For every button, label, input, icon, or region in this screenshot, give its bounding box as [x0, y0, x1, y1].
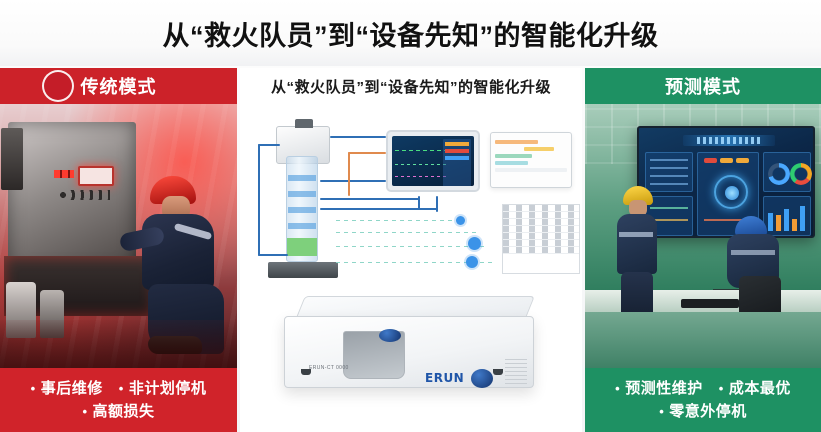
panel-mid-header: 从“救火队员”到“设备先知”的智能化升级: [240, 68, 582, 104]
wire-orange: [348, 152, 386, 154]
report-row: [495, 140, 538, 144]
bullet-item: 成本最优: [719, 377, 791, 400]
wire-bus-1: [320, 198, 420, 200]
wire-left-vertical: [258, 144, 260, 256]
status-bar: [445, 149, 469, 153]
status-pill: [704, 158, 717, 163]
bullet-row-2: 高额损失: [8, 400, 229, 423]
system-diagram: [240, 104, 582, 288]
sensor-active-zone: [287, 238, 317, 256]
panel-right-header: 预测模式: [585, 68, 821, 104]
wire-head-to-monitor: [330, 136, 386, 138]
data-table: [502, 204, 580, 274]
level-mark: [288, 207, 316, 213]
metric-row: [650, 159, 688, 161]
panel-traditional-mode: 传统模式: [0, 68, 237, 432]
data-flow-line: [336, 220, 462, 221]
status-pill: [736, 158, 749, 163]
panel-predictive-mode: 预测模式: [585, 68, 821, 432]
wire-mid-to-monitor: [320, 180, 386, 182]
report-row: [495, 168, 567, 172]
waveform-trace: [395, 150, 447, 151]
bar: [784, 209, 789, 231]
worker-reflective-stripe: [731, 250, 775, 255]
sensor-base: [268, 262, 338, 278]
data-flow-line: [336, 246, 486, 247]
data-node: [456, 216, 465, 225]
panel-mid-body: ERUN-CT 0000 ERUN: [240, 104, 582, 432]
table-row: [503, 226, 579, 233]
table-row: [503, 219, 579, 226]
blue-helmet-icon: [735, 216, 767, 236]
data-node: [468, 237, 481, 250]
status-pill: [720, 158, 733, 163]
panel-left-header-label: 传统模式: [81, 73, 157, 99]
bar: [792, 219, 797, 231]
instrument-knob: [379, 329, 401, 342]
panel-right-photo: [585, 104, 821, 368]
panel-mid-header-label: 从“救火队员”到“设备先知”的智能化升级: [271, 76, 551, 97]
dashboard-screen: [392, 136, 474, 186]
worker-body: [617, 214, 657, 274]
metric-row: [650, 183, 688, 185]
machine-knobs: [58, 190, 110, 200]
table-row: [503, 233, 579, 240]
instrument-foot: [301, 369, 311, 375]
table-row: [503, 247, 579, 254]
wire-riser-1: [418, 196, 420, 210]
table-row: [503, 205, 579, 212]
panel-right-bullets: 预测性维护 成本最优 零意外停机: [585, 368, 821, 432]
wire-orange-vertical: [348, 152, 350, 196]
wire-left-bottom: [258, 254, 288, 256]
instrument-foot: [493, 369, 503, 375]
metric-row: [650, 175, 688, 177]
report-row: [495, 161, 528, 165]
report-row: [495, 154, 532, 158]
bullet-item: 事后维修: [31, 377, 103, 400]
bullet-row-1: 预测性维护 成本最优: [593, 377, 813, 400]
bullet-item: 预测性维护: [615, 377, 703, 400]
instrument-model-label: ERUN-CT 0000: [309, 365, 349, 371]
level-mark: [288, 223, 316, 229]
radar-hud-icon: [714, 175, 748, 209]
wire-bus-2: [320, 208, 438, 210]
table-row: [503, 240, 579, 247]
waveform-trace: [395, 164, 447, 165]
circle-ring-icon: [42, 70, 74, 102]
panel-left-header: 传统模式: [0, 68, 237, 104]
bullet-item: 零意外停机: [659, 400, 747, 423]
slide-root: 从“救火队员”到“设备先知”的智能化升级 传统模式: [0, 0, 821, 432]
instrument-vent: [505, 359, 527, 385]
status-bar: [445, 156, 469, 160]
report-card: [490, 132, 572, 188]
level-mark: [288, 175, 316, 181]
panel-diagram: 从“救火队员”到“设备先知”的智能化升级: [240, 68, 582, 432]
instrument-body: ERUN-CT 0000 ERUN: [284, 316, 534, 388]
bullet-row-2: 零意外停机: [593, 400, 813, 423]
bullet-row-1: 事后维修 非计划停机: [8, 377, 229, 400]
report-row: [524, 147, 554, 151]
page-title: 从“救火队员”到“设备先知”的智能化升级: [163, 14, 659, 53]
gauge-donut-multi: [790, 163, 812, 185]
data-flow-line: [336, 232, 476, 233]
factory-machine: [8, 122, 136, 272]
machine-cabinet: [1, 128, 23, 190]
panel-left-bullets: 事后维修 非计划停机 高额损失: [0, 368, 237, 432]
screen-title-banner: [683, 135, 775, 146]
wire-left-top: [258, 144, 280, 146]
level-mark: [288, 191, 316, 197]
instrument-power-button[interactable]: [471, 369, 493, 388]
instrument-brand-label: ERUN: [425, 371, 464, 385]
metric-row: [650, 167, 688, 169]
panel-right-header-label: 预测模式: [665, 73, 741, 99]
table-row: [503, 212, 579, 219]
worker-reflective-stripe: [619, 232, 653, 237]
bullet-item: 高额损失: [82, 400, 154, 423]
factory-floor: [0, 320, 237, 368]
panel-left-photo: [0, 104, 237, 368]
bar: [800, 206, 805, 231]
wire-riser-2: [436, 196, 438, 212]
bullet-item: 非计划停机: [119, 377, 207, 400]
monitoring-dashboard: [386, 130, 480, 192]
sensor-cap: [295, 119, 313, 128]
control-room-floor: [585, 312, 821, 368]
status-bar: [445, 142, 469, 146]
data-node: [466, 256, 478, 268]
erun-instrument: ERUN-CT 0000 ERUN: [274, 288, 552, 408]
screen-card-gauges: [763, 152, 811, 192]
dashboard-side-panel: [443, 139, 471, 186]
gauge-donut-blue: [768, 163, 790, 185]
machine-display: [78, 166, 114, 186]
slide-title-bar: 从“救火队员”到“设备先知”的智能化升级: [0, 0, 821, 66]
machine-led-strip: [54, 170, 74, 178]
waveform-trace: [395, 176, 447, 177]
